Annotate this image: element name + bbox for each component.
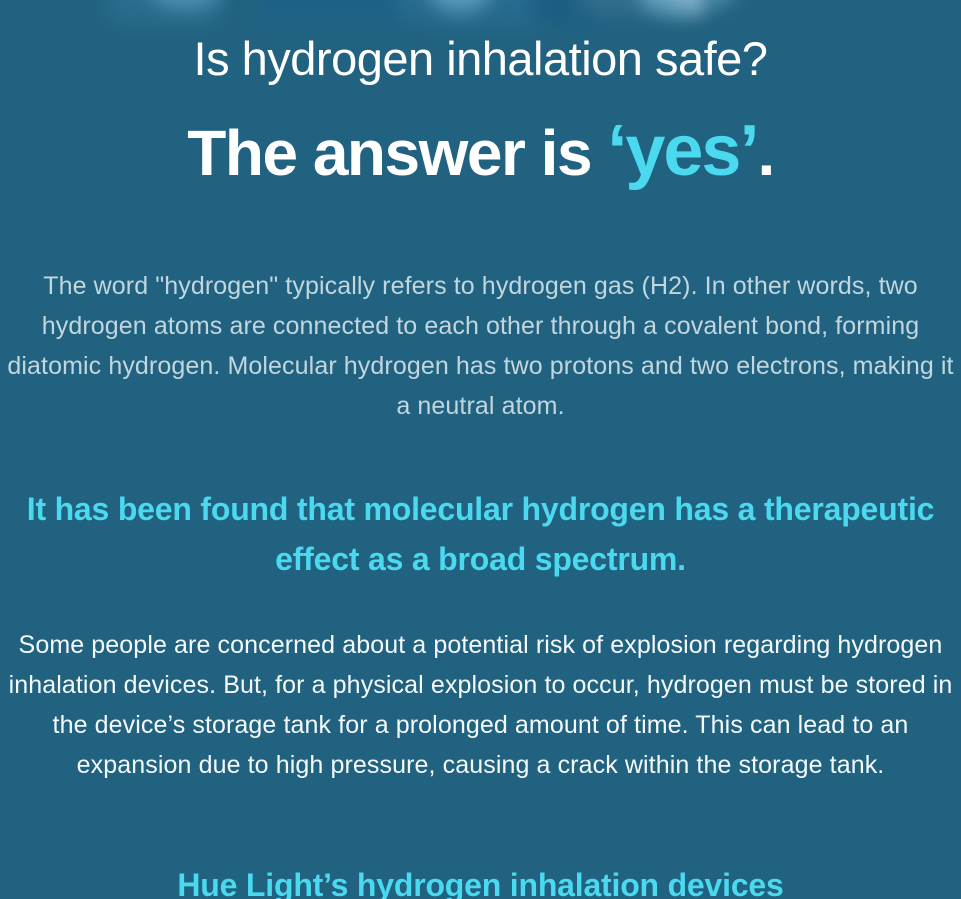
- hero-headline: The answer is ‘yes’.: [0, 112, 961, 191]
- paragraph-one-line: The word "hydrogen" typically refers to …: [43, 272, 697, 300]
- paragraph-two: Some people are concerned about a potent…: [0, 625, 961, 785]
- headline-lead-text: The answer is: [187, 117, 607, 189]
- paragraph-one: The word "hydrogen" typically refers to …: [0, 266, 961, 426]
- eyebrow-question: Is hydrogen inhalation safe?: [0, 32, 961, 86]
- headline-tail-text: .: [757, 117, 773, 189]
- accent-heading-one: It has been found that molecular hydroge…: [0, 484, 961, 584]
- accent-heading-two-line: Hue Light’s hydrogen inhalation devices: [177, 867, 783, 899]
- eyebrow-text: Is hydrogen inhalation safe?: [194, 32, 768, 85]
- paragraph-two-line: pressure, causing a crack within the sto…: [330, 751, 884, 779]
- paragraph-two-line: Some people are concerned about a potent…: [19, 631, 717, 659]
- headline-accent-text: ‘yes’: [607, 111, 757, 191]
- accent-heading-two: Hue Light’s hydrogen inhalation devices: [0, 860, 961, 899]
- paragraph-one-line: hydrogen. Molecular hydrogen has two pro…: [108, 352, 729, 380]
- accent-heading-one-line: It has been found that molecular hydroge…: [27, 491, 756, 527]
- infographic-stage: Is hydrogen inhalation safe? The answer …: [0, 0, 961, 899]
